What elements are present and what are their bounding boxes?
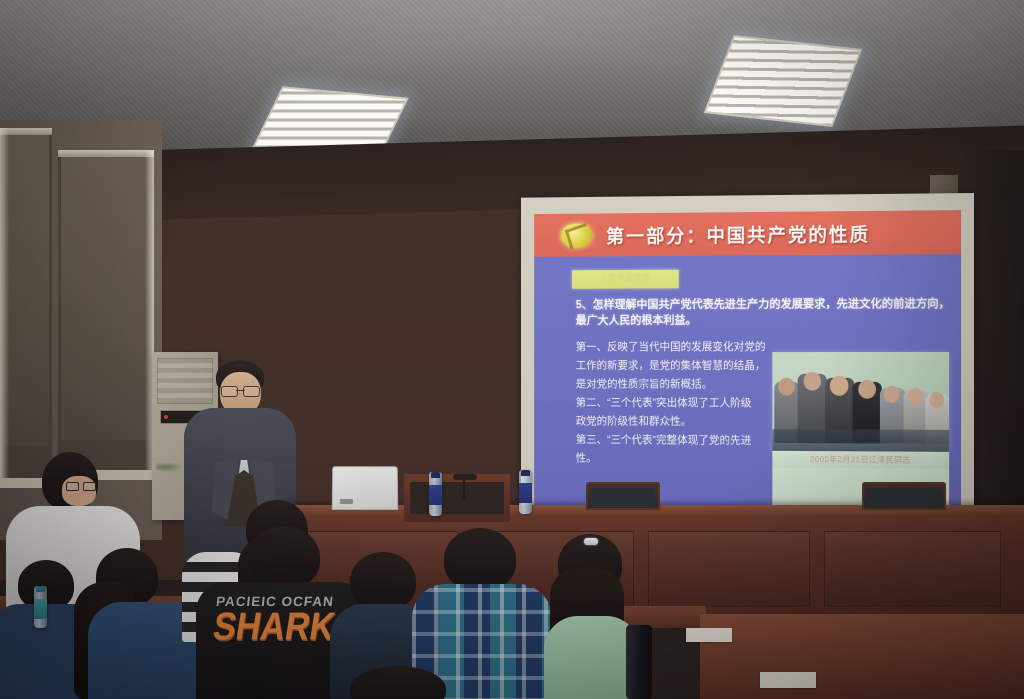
- water-bottle[interactable]: [429, 472, 442, 516]
- student-head: [350, 552, 416, 610]
- point-line: 工作的新要求，是党的集体智慧的结晶，: [576, 360, 766, 372]
- dais-panel: [648, 531, 810, 607]
- window-light-leak: [0, 128, 9, 488]
- window-left-inner: [58, 150, 154, 480]
- slide-header: 第一部分：中国共产党的性质: [534, 210, 961, 257]
- power-indicator-icon: [164, 415, 168, 419]
- point-line: 第二、“三个代表”突出体现了工人阶级: [576, 397, 752, 409]
- roller-blind[interactable]: [61, 150, 151, 440]
- roller-blind[interactable]: [3, 128, 49, 445]
- point-line: 第三、“三个代表”完整体现了党的先进: [576, 434, 752, 447]
- caption-text: 2000年2月21日江泽民同志: [772, 451, 949, 469]
- student-face: [62, 476, 96, 506]
- point-line: 政党的阶级性和群众性。: [576, 416, 691, 428]
- slide-highlight-box: 主要内容提要: [572, 270, 679, 289]
- paper-sheet[interactable]: [760, 672, 816, 688]
- audience-member: [330, 666, 480, 699]
- laptop-logo-icon: [340, 499, 353, 504]
- desk-microphone[interactable]: [463, 478, 465, 500]
- point-line: 是对党的性质宗旨的新概括。: [576, 378, 713, 390]
- lecture-hall-photo: 第一部分：中国共产党的性质 主要内容提要 5、怎样理解中国共产党代表先进生产力的…: [0, 0, 1024, 699]
- glasses-icon: [221, 386, 260, 395]
- louver-grid: [706, 37, 859, 125]
- photo-figures: [772, 352, 949, 452]
- student-desk: [700, 614, 1024, 699]
- blind-rail: [58, 150, 154, 157]
- jacket-graphic-main: SHARK: [201, 607, 347, 646]
- water-bottle[interactable]: [519, 470, 532, 514]
- dais-chair[interactable]: [586, 482, 660, 512]
- audience-member: [540, 534, 640, 699]
- travel-mug[interactable]: [626, 625, 652, 699]
- lectern: [404, 474, 510, 522]
- slide-title: 第一部分：中国共产党的性质: [606, 219, 870, 248]
- student-head: [350, 666, 446, 699]
- photo-table: [772, 429, 949, 452]
- water-bottle[interactable]: [34, 586, 47, 628]
- slide-inset-photo: [772, 352, 949, 452]
- lectern-face: [410, 482, 504, 514]
- hair-clip-icon: [584, 538, 598, 545]
- projection-screen-frame: 第一部分：中国共产党的性质 主要内容提要 5、怎样理解中国共产党代表先进生产力的…: [521, 193, 974, 523]
- student-head: [444, 528, 516, 590]
- student-head: [248, 526, 320, 588]
- projection-screen: 第一部分：中国共产党的性质 主要内容提要 5、怎样理解中国共产党代表先进生产力的…: [534, 210, 961, 513]
- paper-sheet[interactable]: [686, 628, 732, 642]
- dais-panel: [824, 531, 1001, 607]
- slide-highlight-text: 主要内容提要: [572, 270, 679, 289]
- point-line: 性。: [576, 453, 597, 465]
- dais-chair[interactable]: [862, 482, 946, 514]
- glasses-icon: [66, 482, 96, 489]
- slide-photo-caption: 2000年2月21日江泽民同志: [772, 451, 949, 469]
- point-line: 第一、反映了当代中国的发展变化对党的: [576, 341, 766, 353]
- slide-body: 主要内容提要 5、怎样理解中国共产党代表先进生产力的发展要求，先进文化的前进方向…: [534, 254, 961, 513]
- slide-question-text: 5、怎样理解中国共产党代表先进生产力的发展要求，先进文化的前进方向，最广大人民的…: [576, 296, 951, 329]
- window-left-outer: [0, 128, 52, 488]
- party-emblem-icon: [559, 220, 597, 250]
- laptop[interactable]: [332, 466, 399, 510]
